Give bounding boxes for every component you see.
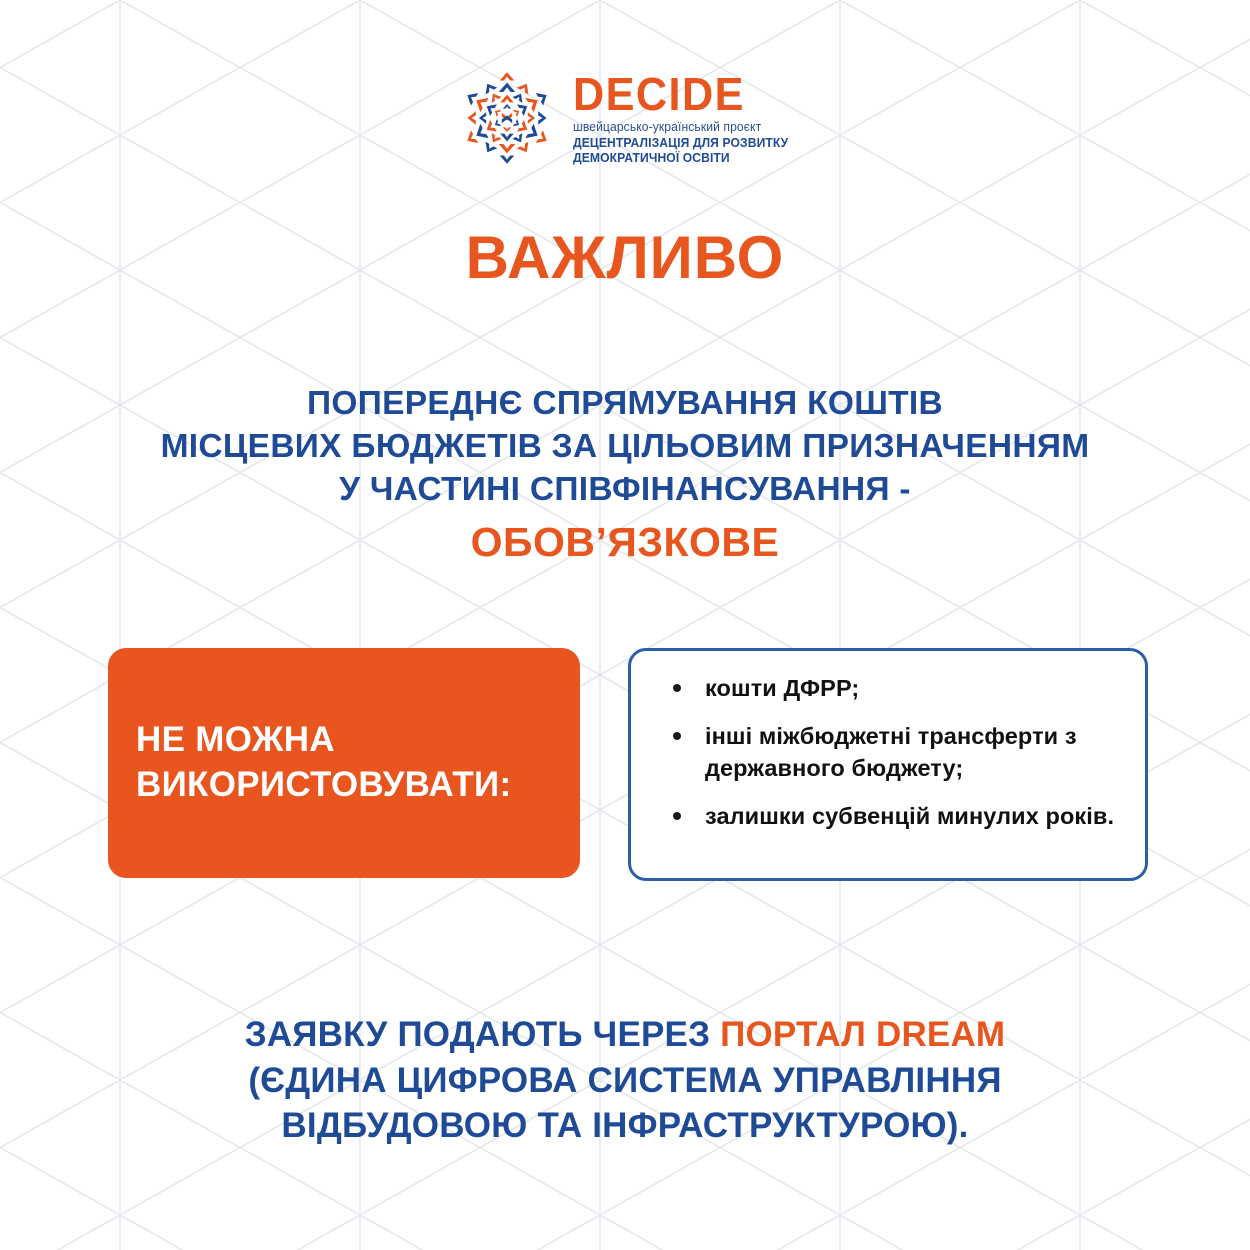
decide-logo: DECIDE швейцарсько-український проєкт ДЕ… (0, 66, 1250, 170)
poster-canvas: DECIDE швейцарсько-український проєкт ДЕ… (0, 0, 1250, 1250)
subtitle-block: ПОПЕРЕДНЄ СПРЯМУВАННЯ КОШТІВ МІСЦЕВИХ БЮ… (60, 382, 1190, 565)
prohibition-label-line-2: ВИКОРИСТОВУВАТИ: (136, 763, 511, 808)
bullet-dot-icon (673, 812, 681, 820)
footer-portal-highlight: ПОРТАЛ DREAM (720, 1015, 1005, 1054)
subtitle-line-2: МІСЦЕВИХ БЮДЖЕТІВ ЗА ЦІЛЬОВИМ ПРИЗНАЧЕНН… (60, 425, 1190, 468)
list-item-label: інші міжбюджетні трансферти з державного… (705, 723, 1077, 780)
bullet-dot-icon (673, 684, 681, 692)
prohibition-label-line-1: НЕ МОЖНА (136, 718, 511, 763)
footer-line-1: ЗАЯВКУ ПОДАЮТЬ ЧЕРЕЗ ПОРТАЛ DREAM (60, 1012, 1190, 1058)
page-headline: ВАЖЛИВО (0, 228, 1250, 288)
list-item: інші міжбюджетні трансферти з державного… (667, 721, 1127, 784)
logo-subtitle-line-1: ДЕЦЕНТРАЛІЗАЦІЯ ДЛЯ РОЗВИТКУ (573, 136, 788, 151)
list-item-label: кошти ДФРР; (705, 675, 859, 701)
logo-subtitle-line-2: ДЕМОКРАТИЧНОЇ ОСВІТИ (573, 151, 788, 166)
prohibition-card-label: НЕ МОЖНА ВИКОРИСТОВУВАТИ: (136, 718, 511, 808)
prohibition-card: НЕ МОЖНА ВИКОРИСТОВУВАТИ: (108, 648, 580, 878)
decide-snowflake-logo-icon (455, 66, 559, 170)
subtitle-line-1: ПОПЕРЕДНЄ СПРЯМУВАННЯ КОШТІВ (60, 382, 1190, 425)
footer-line-2: (ЄДИНА ЦИФРОВА СИСТЕМА УПРАВЛІННЯ (60, 1058, 1190, 1104)
cards-row: НЕ МОЖНА ВИКОРИСТОВУВАТИ: кошти ДФРР; ін… (0, 648, 1250, 888)
list-item-label: залишки субвенцій минулих років. (705, 803, 1114, 829)
footer-note: ЗАЯВКУ ПОДАЮТЬ ЧЕРЕЗ ПОРТАЛ DREAM (ЄДИНА… (60, 1012, 1190, 1149)
list-item: кошти ДФРР; (667, 673, 1127, 704)
footer-line-3: ВІДБУДОВОЮ ТА ІНФРАСТРУКТУРОЮ). (60, 1103, 1190, 1149)
prohibited-items-card: кошти ДФРР; інші міжбюджетні трансферти … (628, 648, 1148, 881)
list-item: залишки субвенцій минулих років. (667, 801, 1127, 832)
logo-text-block: DECIDE швейцарсько-український проєкт ДЕ… (573, 70, 795, 166)
subtitle-line-3: У ЧАСТИНІ СПІВФІНАНСУВАННЯ - (60, 468, 1190, 511)
footer-line-1-prefix: ЗАЯВКУ ПОДАЮТЬ ЧЕРЕЗ (245, 1015, 720, 1054)
bullet-dot-icon (673, 732, 681, 740)
prohibited-items-list: кошти ДФРР; інші міжбюджетні трансферти … (667, 673, 1127, 832)
logo-tagline: швейцарсько-український проєкт (573, 120, 788, 136)
logo-wordmark: DECIDE (573, 72, 782, 116)
subtitle-emphasis: ОБОВ’ЯЗКОВЕ (60, 520, 1190, 565)
